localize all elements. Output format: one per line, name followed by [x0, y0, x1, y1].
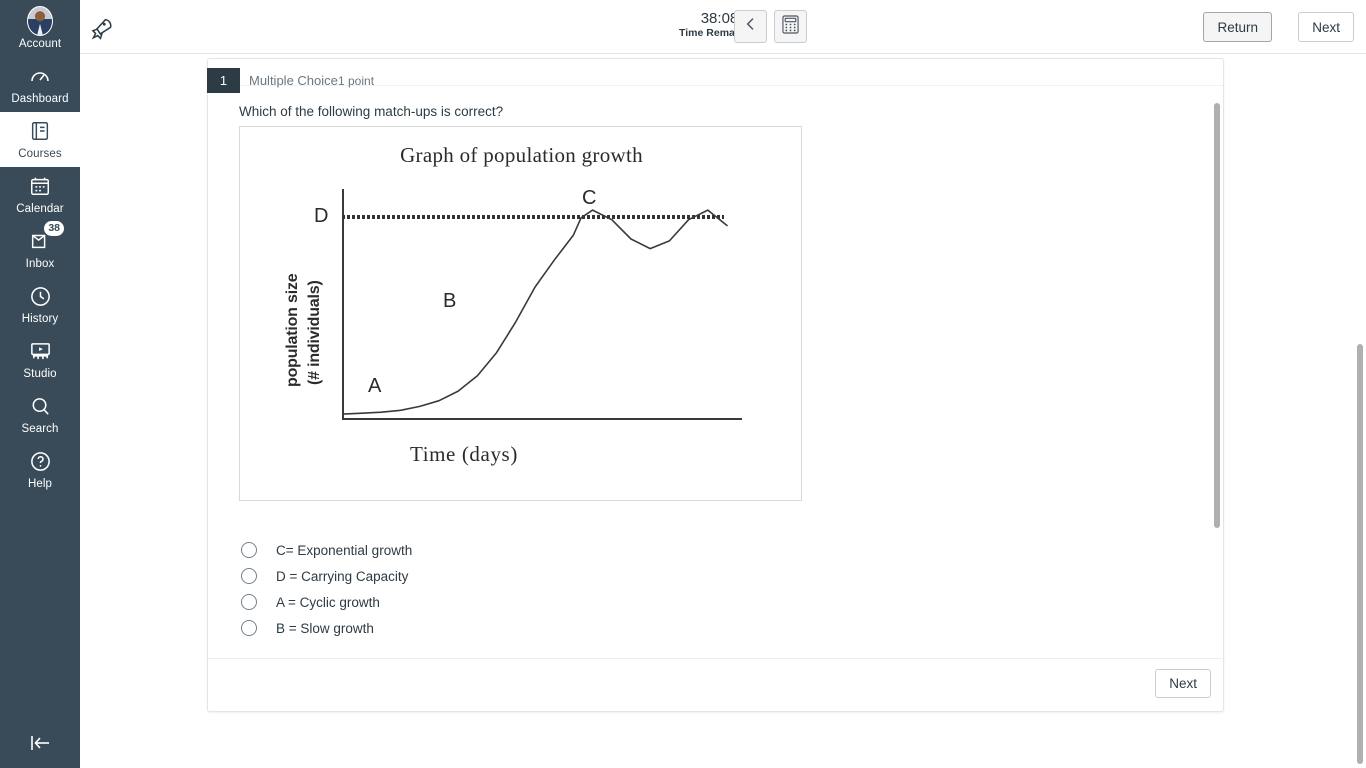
search-icon — [27, 393, 53, 419]
radio-button-3[interactable] — [241, 594, 257, 610]
nav-item-search[interactable]: Search — [0, 387, 80, 442]
nav-item-calendar[interactable]: Calendar — [0, 167, 80, 222]
question-body-scroll-thumb[interactable] — [1214, 103, 1220, 528]
answer-label-2: D = Carrying Capacity — [276, 569, 408, 584]
answer-option-1[interactable]: C= Exponential growth — [208, 537, 1225, 563]
calculator-icon — [782, 15, 799, 39]
nav-label-courses: Courses — [18, 147, 62, 161]
question-body-scrollbar[interactable] — [1212, 97, 1223, 532]
inbox-unread-badge: 38 — [44, 221, 64, 236]
calculator-button[interactable] — [774, 10, 807, 43]
question-number-badge: 1 — [207, 68, 240, 93]
answer-options: C= Exponential growth D = Carrying Capac… — [208, 537, 1225, 641]
nav-label-search: Search — [21, 422, 58, 436]
nav-label-inbox: Inbox — [26, 257, 55, 271]
question-footer: Next — [208, 658, 1225, 711]
nav-item-history[interactable]: History — [0, 277, 80, 332]
radio-button-1[interactable] — [241, 542, 257, 558]
studio-icon — [27, 338, 53, 364]
question-body: Which of the following match-ups is corr… — [208, 96, 1225, 533]
next-button-top[interactable]: Next — [1298, 12, 1354, 42]
page-scrollbar[interactable] — [1354, 108, 1366, 768]
calendar-icon — [27, 173, 53, 199]
question-header: 1 Multiple Choice 1 point — [208, 59, 1223, 86]
nav-label-calendar: Calendar — [16, 202, 63, 216]
global-navigation: Account Dashboard Courses Calendar 38 — [0, 0, 80, 768]
population-growth-figure: Graph of population growth population si… — [239, 126, 802, 501]
answer-option-4[interactable]: B = Slow growth — [208, 615, 1225, 641]
question-type-label: Multiple Choice — [249, 73, 338, 88]
answer-label-4: B = Slow growth — [276, 621, 374, 636]
radio-button-2[interactable] — [241, 568, 257, 584]
nav-item-help[interactable]: Help — [0, 442, 80, 497]
return-button[interactable]: Return — [1203, 12, 1272, 42]
question-card: 1 Multiple Choice 1 point Which of the f… — [207, 58, 1224, 712]
quiz-topbar: 38:08 Time Remaining — [80, 0, 1366, 54]
nav-label-studio: Studio — [23, 367, 56, 381]
collapse-sidebar-icon[interactable] — [0, 724, 80, 762]
nav-label-help: Help — [28, 477, 52, 491]
avatar-icon — [27, 8, 53, 34]
clock-icon — [27, 283, 53, 309]
nav-label-dashboard: Dashboard — [11, 92, 68, 106]
inbox-icon: 38 — [27, 228, 53, 254]
quiz-page: Account Dashboard Courses Calendar 38 — [0, 0, 1366, 768]
quiz-content: 1 Multiple Choice 1 point Which of the f… — [80, 54, 1366, 768]
answer-option-2[interactable]: D = Carrying Capacity — [208, 563, 1225, 589]
radio-button-4[interactable] — [241, 620, 257, 636]
population-curve — [240, 127, 802, 501]
page-scroll-thumb[interactable] — [1357, 344, 1363, 764]
answer-option-3[interactable]: A = Cyclic growth — [208, 589, 1225, 615]
answer-label-3: A = Cyclic growth — [276, 595, 380, 610]
chevron-left-icon — [743, 16, 759, 37]
nav-item-studio[interactable]: Studio — [0, 332, 80, 387]
previous-question-button[interactable] — [734, 10, 767, 43]
question-text: Which of the following match-ups is corr… — [239, 104, 503, 119]
rocket-icon — [88, 15, 114, 46]
answer-label-1: C= Exponential growth — [276, 543, 412, 558]
dashboard-icon — [27, 63, 53, 89]
help-icon — [27, 448, 53, 474]
nav-label-account: Account — [19, 37, 61, 51]
nav-item-account[interactable]: Account — [0, 0, 80, 57]
nav-item-inbox[interactable]: 38 Inbox — [0, 222, 80, 277]
nav-item-courses[interactable]: Courses — [0, 112, 80, 167]
next-question-button[interactable]: Next — [1155, 669, 1211, 698]
question-points-label: 1 point — [338, 74, 374, 88]
nav-label-history: History — [22, 312, 58, 326]
courses-icon — [27, 118, 53, 144]
nav-item-dashboard[interactable]: Dashboard — [0, 57, 80, 112]
